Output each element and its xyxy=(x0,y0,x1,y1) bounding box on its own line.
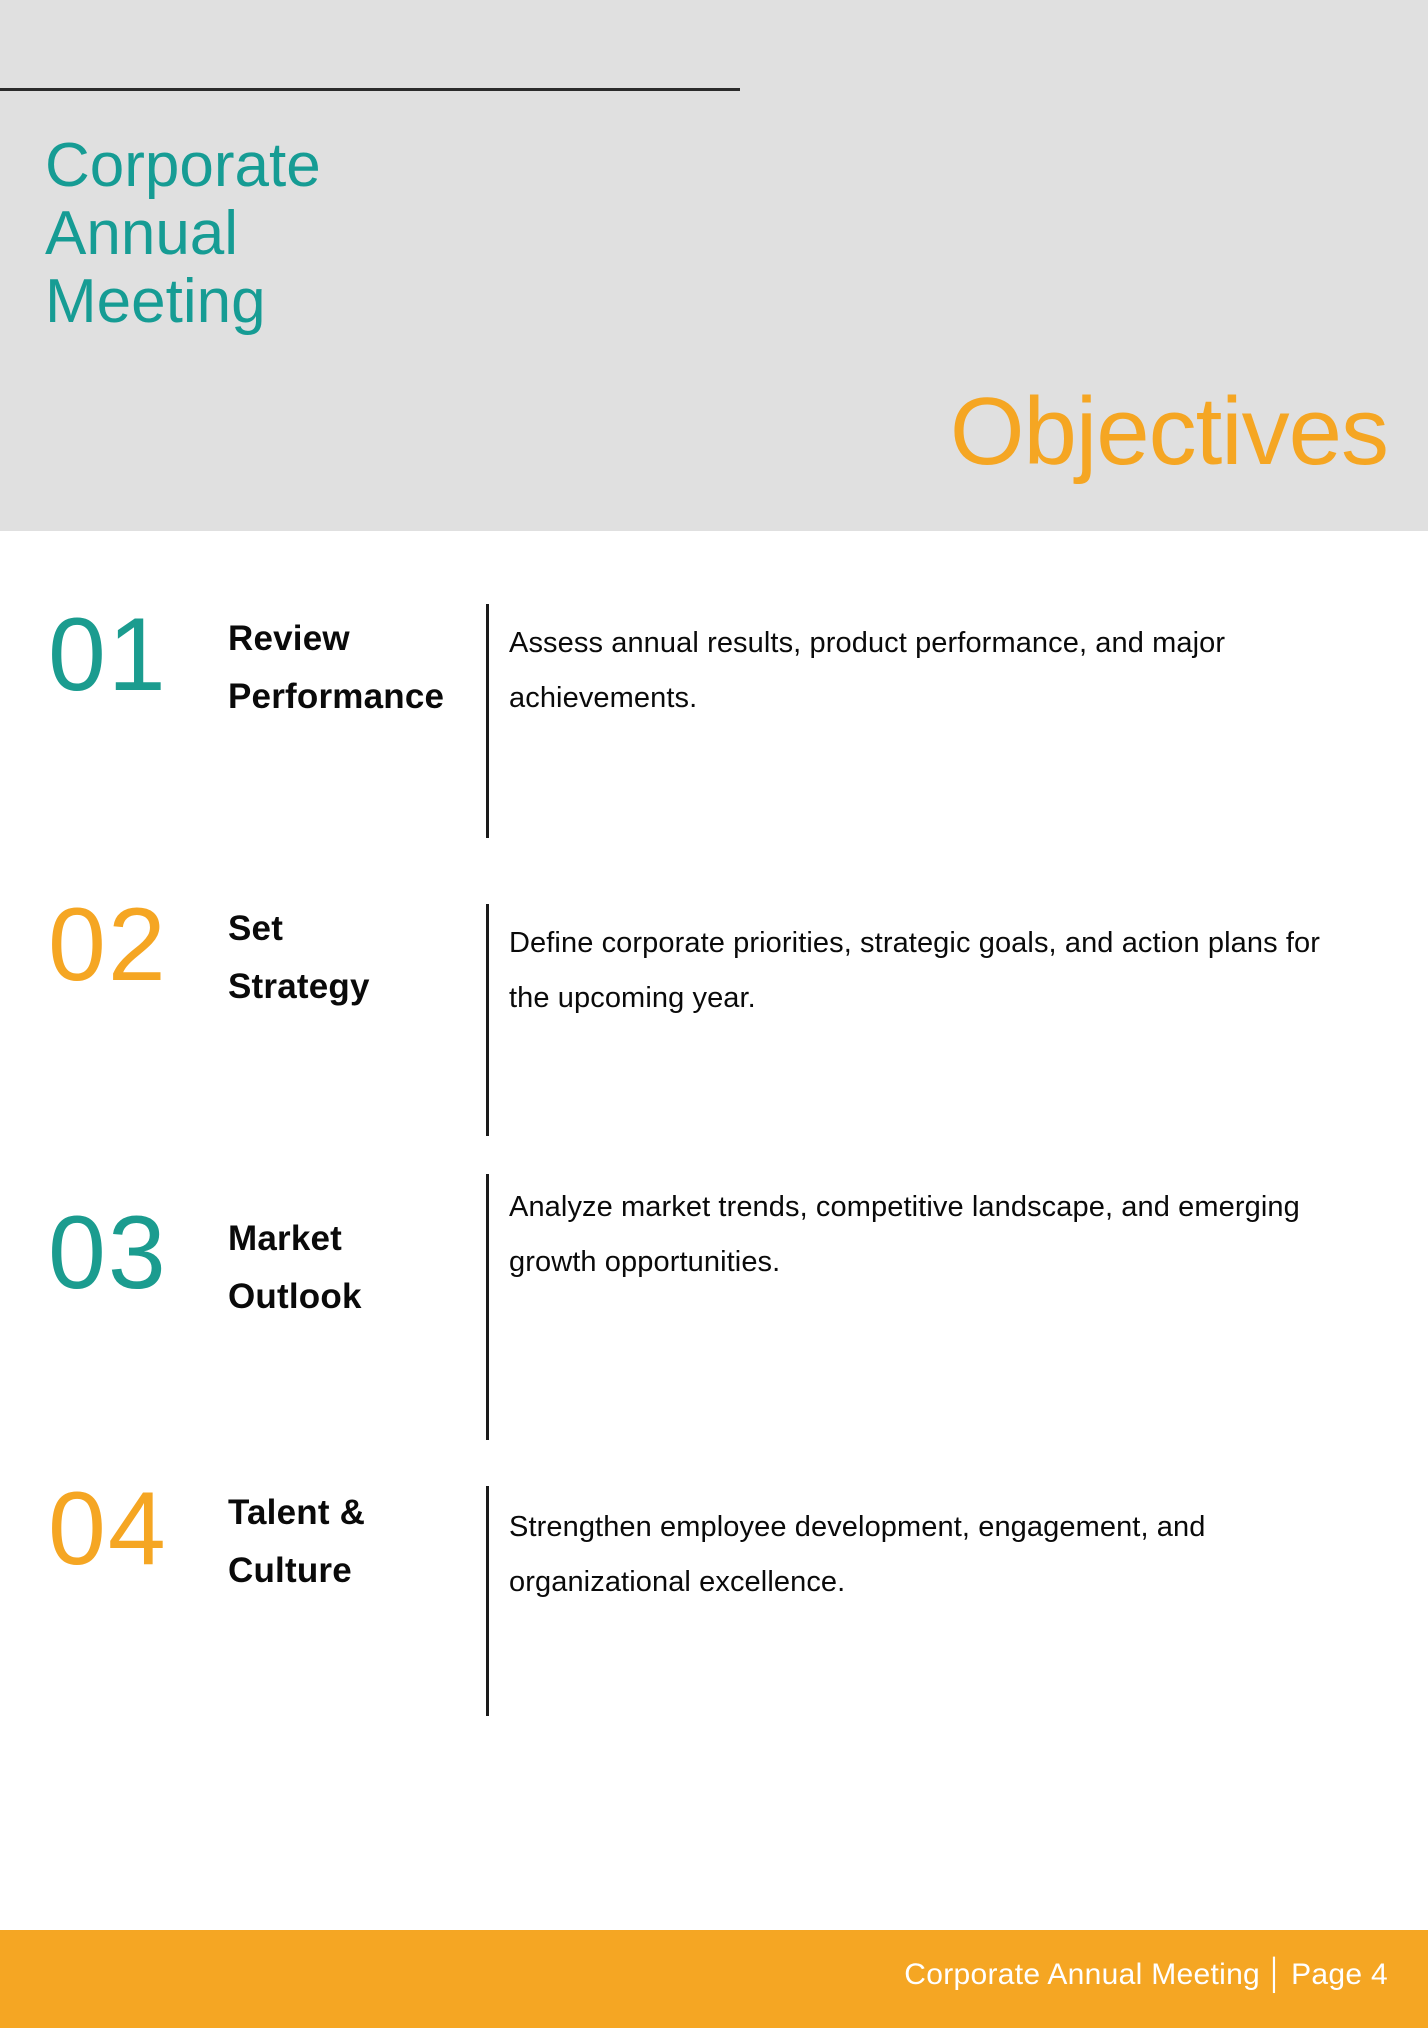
footer-text: Corporate Annual Meeting│Page 4 xyxy=(904,1956,1388,1994)
objective-description: Define corporate priorities, strategic g… xyxy=(489,890,1428,1026)
objective-title: Talent & Culture xyxy=(228,1470,478,1600)
objective-item: 04 Talent & Culture Strengthen employee … xyxy=(0,1470,1428,1760)
objective-description: Assess annual results, product performan… xyxy=(489,600,1428,726)
slide-title: Objectives xyxy=(950,380,1388,484)
footer-document-name: Corporate Annual Meeting xyxy=(904,1958,1260,1991)
objective-number: 03 xyxy=(48,1180,228,1308)
deck-title: Corporate Annual Meeting xyxy=(45,132,565,336)
objective-title: Market Outlook xyxy=(228,1180,478,1326)
footer-separator: │ xyxy=(1260,1956,1291,1994)
objective-number: 04 xyxy=(48,1470,228,1584)
footer-band: Corporate Annual Meeting│Page 4 xyxy=(0,1930,1428,2028)
objective-item: 03 Market Outlook Analyze market trends,… xyxy=(0,1180,1428,1470)
objectives-list: 01 Review Performance Assess annual resu… xyxy=(0,600,1428,1760)
objective-number: 01 xyxy=(48,600,228,710)
objective-description: Strengthen employee development, engagem… xyxy=(489,1470,1428,1610)
objective-item: 01 Review Performance Assess annual resu… xyxy=(0,600,1428,890)
objective-title: Set Strategy xyxy=(228,890,478,1016)
objective-item: 02 Set Strategy Define corporate priorit… xyxy=(0,890,1428,1180)
objective-title: Review Performance xyxy=(228,600,478,726)
objective-description: Analyze market trends, competitive lands… xyxy=(489,1180,1428,1290)
objective-number: 02 xyxy=(48,890,228,1000)
header-divider-rule xyxy=(0,88,740,91)
header-band: Corporate Annual Meeting Objectives xyxy=(0,0,1428,531)
footer-page-label: Page 4 xyxy=(1291,1958,1388,1991)
